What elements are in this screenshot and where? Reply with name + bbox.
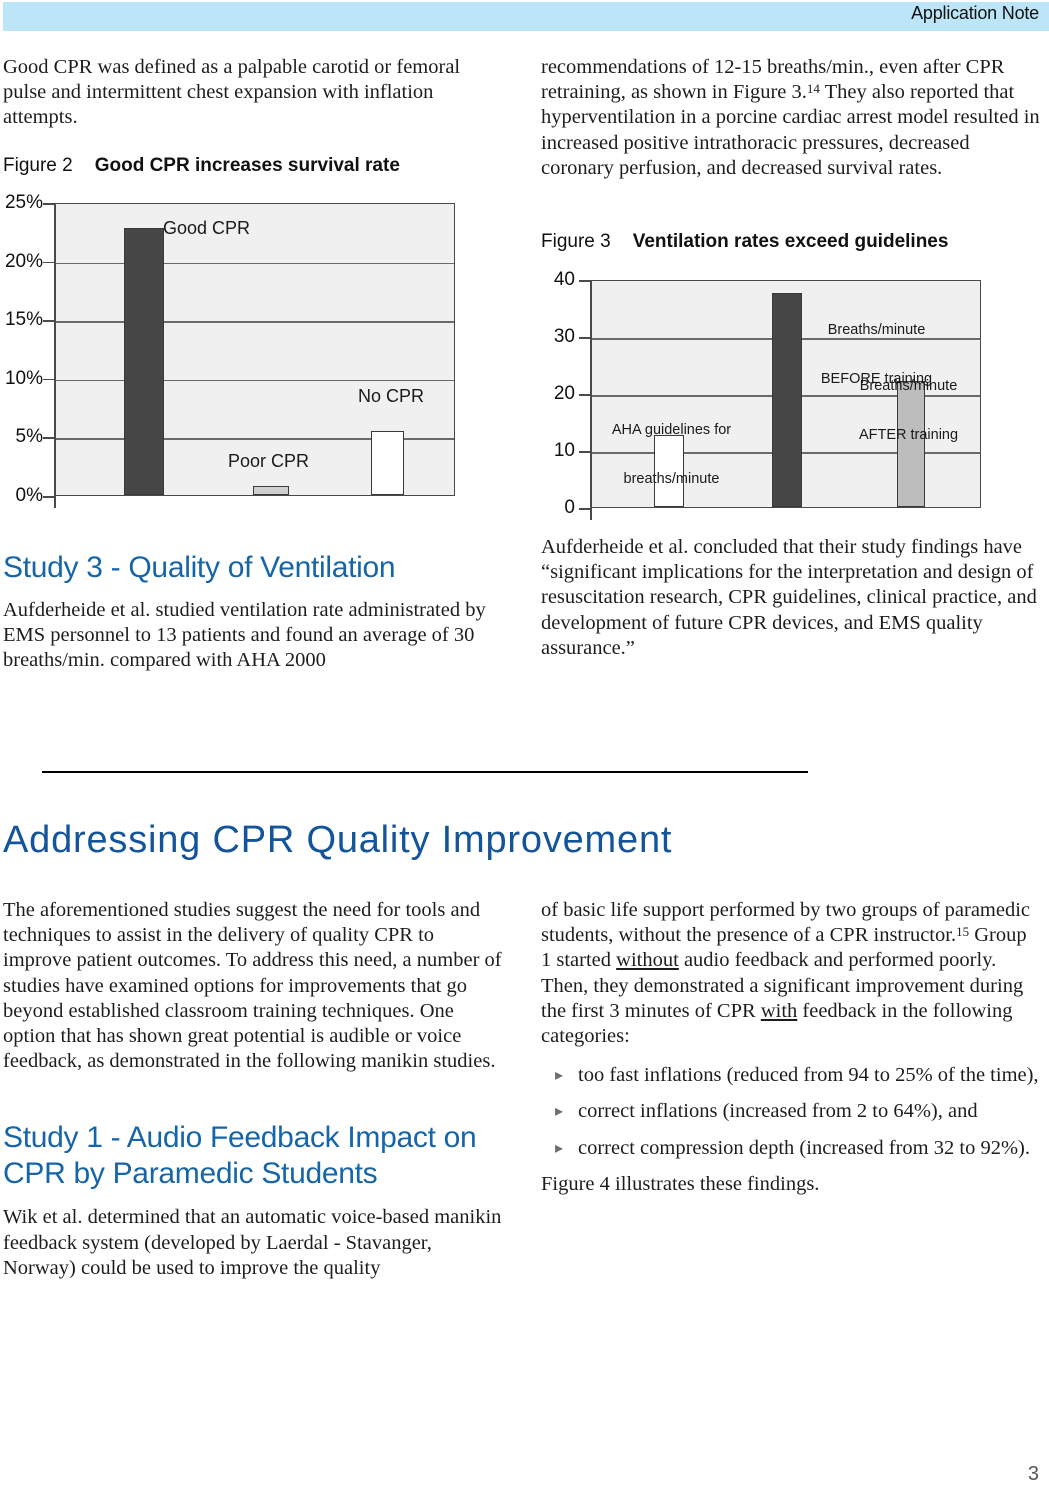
list-item-text: correct inflations (increased from 2 to … xyxy=(578,1100,978,1122)
figure3-title: Ventilation rates exceed guidelines xyxy=(633,231,949,252)
page-number: 3 xyxy=(1028,1463,1039,1486)
ytick-label-10: 10 xyxy=(535,440,575,462)
figure2-number: Figure 2 xyxy=(3,155,73,176)
ytick-label-40: 40 xyxy=(535,269,575,291)
emphasis-without: without xyxy=(616,949,679,971)
right-column-conclusion: Aufderheide et al. concluded that their … xyxy=(541,535,1041,673)
series-label-poor-cpr: Poor CPR xyxy=(228,451,309,471)
tick-30 xyxy=(579,337,591,339)
tick-40 xyxy=(579,280,591,282)
bar-no-cpr xyxy=(371,431,404,496)
right-column-bottom: of basic life support performed by two g… xyxy=(541,898,1041,1209)
study3-block: Study 3 - Quality of Ventilation Aufderh… xyxy=(3,550,503,686)
tick-25 xyxy=(43,203,55,205)
page-title: Addressing CPR Quality Improvement xyxy=(3,818,903,862)
tick-10 xyxy=(579,451,591,453)
ytick-label-30: 30 xyxy=(535,326,575,348)
conclusion-paragraph: Aufderheide et al. concluded that their … xyxy=(541,535,1041,661)
intro-paragraph: Good CPR was defined as a palpable carot… xyxy=(3,55,503,131)
arrow-bullet-icon: ▸ xyxy=(555,1064,563,1088)
figure4-reference-paragraph: Figure 4 illustrates these findings. xyxy=(541,1172,1041,1197)
arrow-bullet-icon: ▸ xyxy=(555,1100,563,1124)
emphasis-with: with xyxy=(761,1000,797,1022)
ytick-label-20: 20% xyxy=(0,251,43,273)
ytick-label-10: 10% xyxy=(0,368,43,390)
tick-15 xyxy=(43,320,55,322)
figure3-y-axis xyxy=(590,280,592,520)
tick-10 xyxy=(43,379,55,381)
header-banner: Application Note xyxy=(3,2,1049,31)
series-label-after-training: Breaths/minute AFTER training xyxy=(831,346,986,476)
figure2-chart: 25% 20% 15% 10% 5% 0% Good CPR No CPR Po… xyxy=(3,196,503,511)
tick-20 xyxy=(579,394,591,396)
section-divider xyxy=(42,771,808,773)
figure2-caption: Figure 2Good CPR increases survival rate xyxy=(3,155,400,177)
series-label-aha-line2: breaths/minute xyxy=(599,471,744,487)
list-item-text: correct compression depth (increased fro… xyxy=(578,1137,1030,1159)
findings-list: ▸ too fast inflations (reduced from 94 t… xyxy=(541,1063,1041,1161)
left-column-bottom: The aforementioned studies suggest the n… xyxy=(3,898,503,1293)
header-title: Application Note xyxy=(911,3,1039,24)
figure2-title: Good CPR increases survival rate xyxy=(95,155,400,176)
addressing-paragraph: The aforementioned studies suggest the n… xyxy=(3,898,503,1074)
gridline-20 xyxy=(56,263,454,265)
footnote-ref-15: 15 xyxy=(956,924,969,939)
list-item: ▸ too fast inflations (reduced from 94 t… xyxy=(541,1063,1041,1088)
study1-heading: Study 1 - Audio Feedback Impact on CPR b… xyxy=(3,1120,503,1192)
list-item: ▸ correct inflations (increased from 2 t… xyxy=(541,1099,1041,1124)
continuation-paragraph: recommendations of 12-15 breaths/min., e… xyxy=(541,55,1041,181)
series-label-good-cpr: Good CPR xyxy=(163,218,250,238)
list-item-text: too fast inflations (reduced from 94 to … xyxy=(578,1064,1039,1086)
gridline-15 xyxy=(56,321,454,323)
series-label-after-line1: Breaths/minute xyxy=(831,378,986,394)
figure2-y-axis xyxy=(54,203,56,508)
left-column-top: Good CPR was defined as a palpable carot… xyxy=(3,55,503,143)
bar-before-training xyxy=(772,293,802,507)
series-label-before-line1: Breaths/minute xyxy=(799,322,954,338)
ytick-label-0: 0 xyxy=(535,497,575,519)
right-column-top: recommendations of 12-15 breaths/min., e… xyxy=(541,55,1041,193)
ytick-label-0: 0% xyxy=(0,485,43,507)
ytick-label-15: 15% xyxy=(0,309,43,331)
gridline-10 xyxy=(56,380,454,382)
tick-0 xyxy=(43,496,55,498)
series-label-aha-guidelines: AHA guidelines for breaths/minute xyxy=(599,390,744,520)
tick-5 xyxy=(43,437,55,439)
tick-0 xyxy=(579,508,591,510)
wik-study-paragraph: of basic life support performed by two g… xyxy=(541,898,1041,1049)
bar-poor-cpr xyxy=(253,486,289,495)
series-label-after-line2: AFTER training xyxy=(831,427,986,443)
ytick-label-5: 5% xyxy=(0,426,43,448)
study3-paragraph: Aufderheide et al. studied ventilation r… xyxy=(3,598,503,674)
figure3-caption: Figure 3Ventilation rates exceed guideli… xyxy=(541,231,948,253)
ytick-label-25: 25% xyxy=(0,192,43,214)
arrow-bullet-icon: ▸ xyxy=(555,1137,563,1161)
series-label-aha-line1: AHA guidelines for xyxy=(599,422,744,438)
ytick-label-20: 20 xyxy=(535,383,575,405)
study3-heading: Study 3 - Quality of Ventilation xyxy=(3,550,503,586)
figure3-chart: 40 30 20 10 0 Breaths/minute BEFORE trai… xyxy=(541,272,1041,532)
tick-20 xyxy=(43,262,55,264)
list-item: ▸ correct compression depth (increased f… xyxy=(541,1136,1041,1161)
bar-good-cpr xyxy=(124,228,164,495)
footnote-ref-14: 14 xyxy=(807,81,820,96)
figure3-number: Figure 3 xyxy=(541,231,611,252)
series-label-no-cpr: No CPR xyxy=(358,386,424,406)
study1-paragraph: Wik et al. determined that an automatic … xyxy=(3,1205,503,1281)
